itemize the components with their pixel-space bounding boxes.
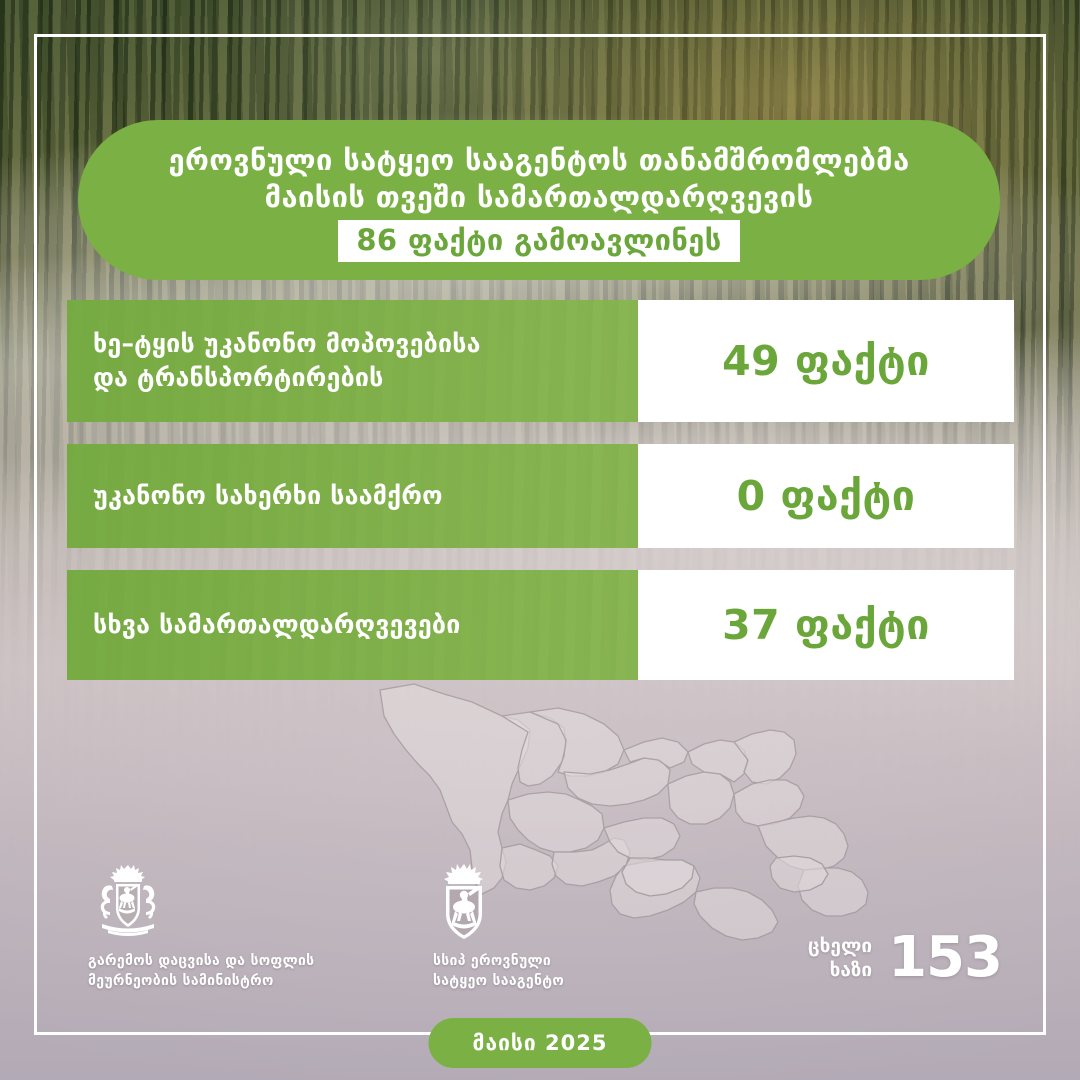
stat-label-line-1: უკანონო სახერხი საამქრო: [93, 479, 443, 514]
hotline-label: ცხელი ხაზი: [808, 934, 872, 983]
saint-george-shield-icon: [433, 862, 668, 940]
hotline-number[interactable]: 153: [888, 930, 1002, 986]
header-line-1: ეროვნული სატყეო სააგენტოს თანამშრომლებმა: [168, 142, 909, 179]
ministry-logo-block: გარემოს დაცვისა და სოფლის მეურნეობის სამ…: [88, 862, 323, 992]
header-highlight-total: 86 ფაქტი გამოავლინეს: [338, 220, 739, 262]
stat-label-line-2: და ტრანსპორტირების: [93, 361, 481, 396]
forestry-agency-logo-line-1: სსიპ ეროვნული: [433, 952, 668, 972]
stat-value-cell: 0 ფაქტი: [638, 444, 1014, 548]
infographic-poster: ეროვნული სატყეო სააგენტოს თანამშრომლებმა…: [0, 0, 1080, 1080]
hotline-label-line-2: ხაზი: [808, 958, 872, 982]
hotline-block: ცხელი ხაზი 153: [808, 930, 1002, 986]
date-badge: მაისი 2025: [429, 1018, 652, 1068]
forestry-agency-logo-line-2: სატყეო სააგენტო: [433, 972, 668, 992]
table-row: სხვა სამართალდარღვევები 37 ფაქტი: [67, 570, 1014, 680]
header-line-2: მაისის თვეში სამართალდარღვევის: [265, 179, 814, 216]
ministry-logo-line-1: გარემოს დაცვისა და სოფლის: [88, 952, 323, 972]
stats-list: ხე–ტყის უკანონო მოპოვებისა და ტრანსპორტი…: [67, 300, 1014, 702]
forestry-agency-logo-block: სსიპ ეროვნული სატყეო სააგენტო: [433, 862, 668, 992]
forestry-agency-logo-text: სსიპ ეროვნული სატყეო სააგენტო: [433, 952, 668, 992]
stat-value-cell: 49 ფაქტი: [638, 300, 1014, 422]
ministry-logo-text: გარემოს დაცვისა და სოფლის მეურნეობის სამ…: [88, 952, 323, 992]
ministry-logo-line-2: მეურნეობის სამინისტრო: [88, 972, 323, 992]
table-row: ხე–ტყის უკანონო მოპოვებისა და ტრანსპორტი…: [67, 300, 1014, 422]
stat-label-cell: ხე–ტყის უკანონო მოპოვებისა და ტრანსპორტი…: [67, 300, 638, 422]
hotline-label-line-1: ცხელი: [808, 934, 872, 958]
footer-logos: გარემოს დაცვისა და სოფლის მეურნეობის სამ…: [88, 862, 668, 992]
table-row: უკანონო სახერხი საამქრო 0 ფაქტი: [67, 444, 1014, 548]
stat-label-cell: უკანონო სახერხი საამქრო: [67, 444, 638, 548]
stat-label-cell: სხვა სამართალდარღვევები: [67, 570, 638, 680]
stat-value-cell: 37 ფაქტი: [638, 570, 1014, 680]
header-banner: ეროვნული სატყეო სააგენტოს თანამშრომლებმა…: [78, 120, 1000, 280]
stat-label-line-1: ხე–ტყის უკანონო მოპოვებისა: [93, 327, 481, 362]
georgia-coat-of-arms-icon: [88, 862, 323, 940]
stat-label-line-1: სხვა სამართალდარღვევები: [93, 608, 461, 643]
